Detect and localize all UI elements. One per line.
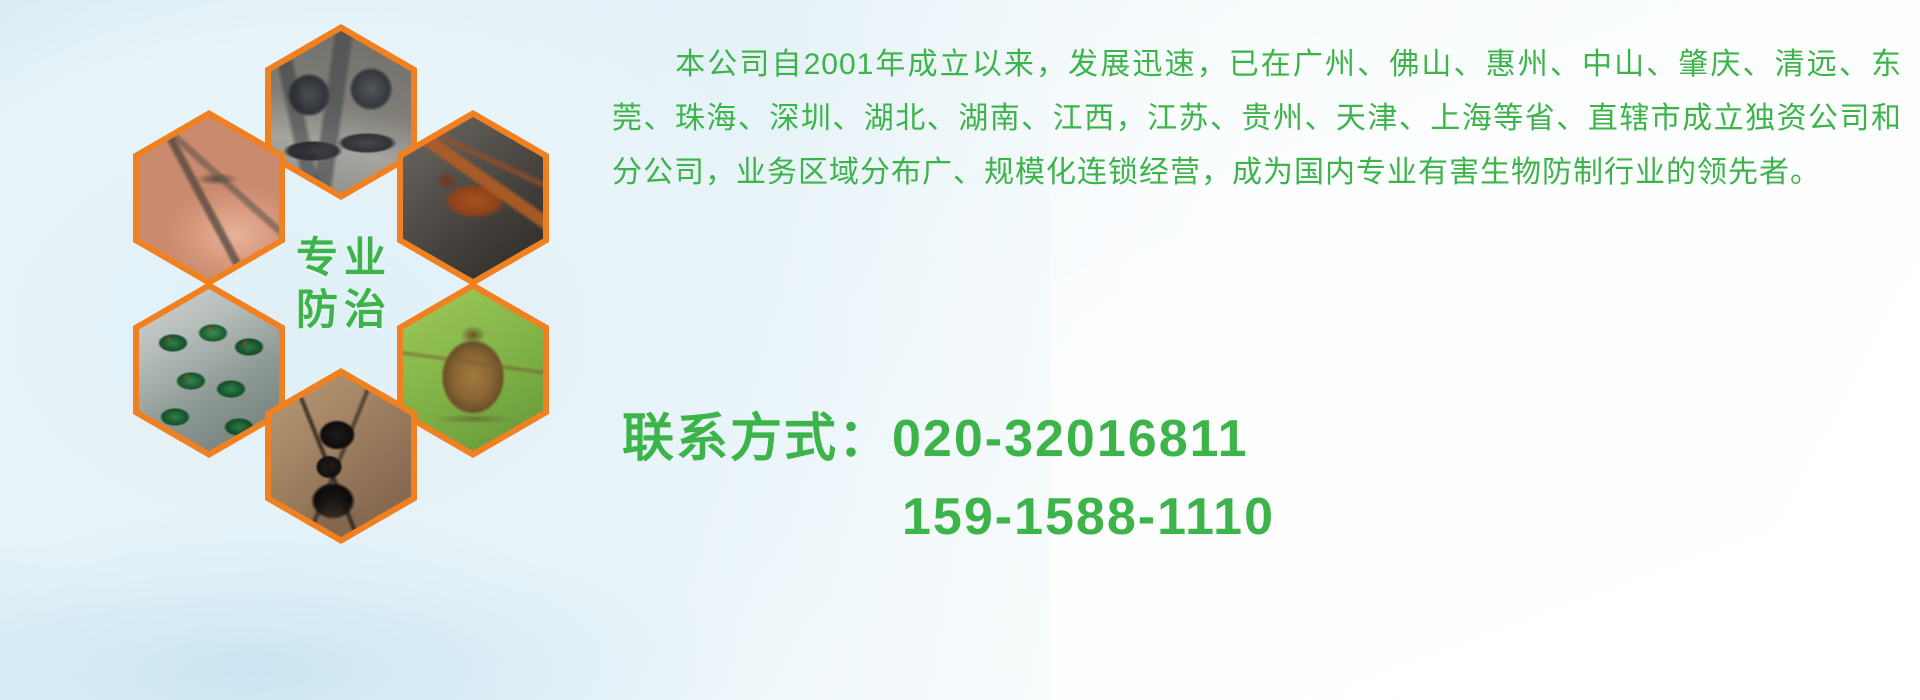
contact-info: 联系方式：020-32016811 159-1588-1110 (612, 400, 1872, 556)
hex-cell-mosquito (133, 110, 285, 286)
company-description-text: 本公司自2001年成立以来，发展迅速，已在广州、佛山、惠州、中山、肇庆、清远、东… (612, 38, 1902, 200)
hex-cell-flies (133, 282, 285, 458)
honeycomb-image-cluster: 专业 防治 (95, 10, 585, 570)
contact-phone-primary[interactable]: 020-32016811 (892, 410, 1249, 468)
hex-cell-ant (265, 368, 417, 544)
logo-slogan-line-2: 防治 (290, 289, 392, 331)
logo-slogan: 专业 防治 (265, 196, 417, 372)
contact-secondary-line: 159-1588-1110 (612, 478, 1872, 556)
company-description: 本公司自2001年成立以来，发展迅速，已在广州、佛山、惠州、中山、肇庆、清远、东… (612, 38, 1902, 200)
promotional-banner: 专业 防治 本公司自2001年成立以来，发展迅速，已在广州、佛山、惠州、中山、肇… (0, 0, 1920, 700)
mosquito-photo (139, 117, 279, 279)
hex-cell-stinkbug (397, 282, 549, 458)
company-description-body: 本公司自2001年成立以来，发展迅速，已在广州、佛山、惠州、中山、肇庆、清远、东… (612, 48, 1902, 189)
logo-slogan-line-1: 专业 (290, 237, 392, 279)
contact-primary-line: 联系方式：020-32016811 (612, 400, 1872, 478)
flies-photo (139, 289, 279, 451)
hex-cell-cockroach (397, 110, 549, 286)
cockroach-photo (403, 117, 543, 279)
contact-phone-secondary[interactable]: 159-1588-1110 (902, 488, 1275, 546)
rats-photo (271, 31, 411, 193)
ant-photo (271, 375, 411, 537)
hex-cell-rats (265, 24, 417, 200)
stinkbug-photo (403, 289, 543, 451)
contact-label: 联系方式： (622, 410, 892, 468)
